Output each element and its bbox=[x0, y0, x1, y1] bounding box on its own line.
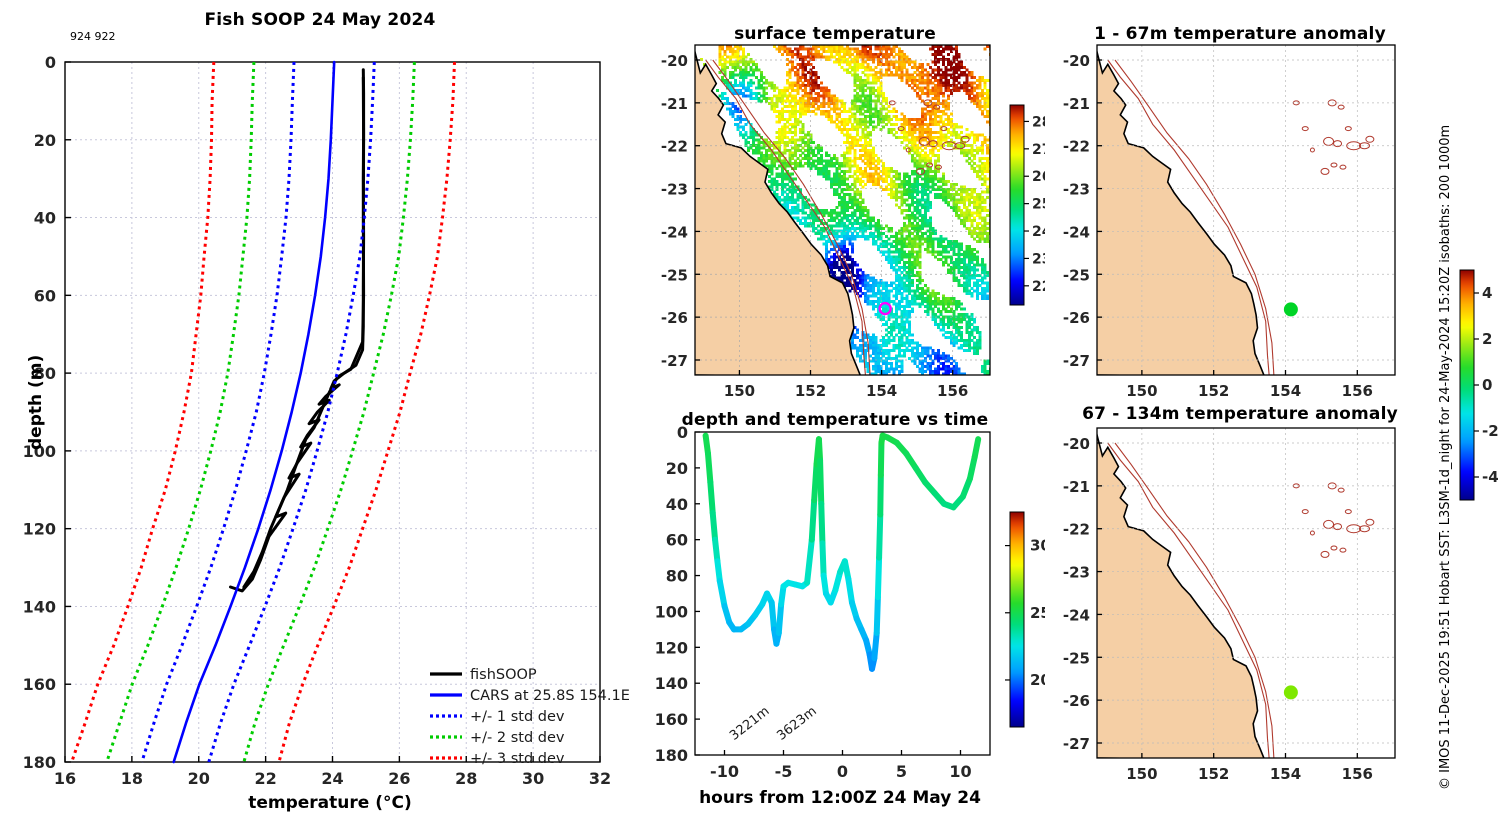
x-tick-label: 16 bbox=[54, 769, 76, 788]
y-tick-label: 140 bbox=[655, 674, 688, 693]
y-tick-label: -22 bbox=[661, 138, 688, 156]
x-tick-label: 18 bbox=[121, 769, 143, 788]
bathymetry-annotation: 3623m bbox=[774, 704, 819, 744]
depth-time-track-segment bbox=[772, 602, 774, 629]
y-tick-label: 40 bbox=[666, 495, 688, 514]
depth-time-track-segment bbox=[879, 515, 880, 558]
y-tick-label: 0 bbox=[677, 423, 688, 442]
y-tick-label: -24 bbox=[1063, 606, 1090, 624]
depth-time-track-segment bbox=[708, 454, 710, 483]
y-tick-label: -21 bbox=[661, 95, 688, 113]
y-tick-label: -27 bbox=[1063, 735, 1090, 753]
y-tick-label: -25 bbox=[1063, 649, 1090, 667]
profile-series--2-std-dev bbox=[107, 62, 254, 762]
y-tick-label: 40 bbox=[34, 209, 56, 228]
y-tick-label: 180 bbox=[23, 753, 56, 772]
credit-text: © IMOS 11-Dec-2025 19:51 Hobart SST: L3S… bbox=[1438, 125, 1453, 790]
y-tick-label: -23 bbox=[661, 181, 688, 199]
depth-time-track-segment bbox=[877, 597, 878, 633]
colorbar-tick-label: 25 bbox=[1030, 604, 1045, 622]
depth-time-track-segment bbox=[713, 513, 715, 540]
x-tick-label: 154 bbox=[1270, 382, 1301, 400]
depth-time-track-segment bbox=[812, 500, 814, 539]
y-tick-label: -21 bbox=[1063, 95, 1090, 113]
y-tick-label: -25 bbox=[1063, 266, 1090, 284]
profile-xlabel: temperature (°C) bbox=[60, 793, 600, 813]
colorbar-tick-label: 20 bbox=[1030, 671, 1045, 689]
depth-time-track-segment bbox=[878, 558, 879, 597]
y-tick-label: 60 bbox=[34, 286, 56, 305]
depth-time-xlabel: hours from 12:00Z 24 May 24 bbox=[655, 788, 1025, 808]
legend-label: fishSOOP bbox=[470, 667, 537, 683]
legend-label: CARS at 25.8S 154.1E bbox=[470, 688, 630, 704]
y-tick-label: -26 bbox=[1063, 692, 1090, 710]
depth-time-track-segment bbox=[819, 439, 820, 461]
x-tick-label: 156 bbox=[937, 382, 968, 400]
depth-time-track-segment bbox=[720, 581, 725, 606]
y-tick-label: -27 bbox=[1063, 352, 1090, 370]
depth-time-plot: -10-505100204060801001201401601803221m36… bbox=[645, 400, 1045, 820]
depth-time-track-segment bbox=[820, 461, 821, 504]
profile-plot: 1618202224262830320204060801001201401601… bbox=[0, 0, 645, 820]
x-tick-label: 22 bbox=[254, 769, 276, 788]
panel-profile: Fish SOOP 24 May 2024 924 922 1618202224… bbox=[0, 0, 645, 820]
y-tick-label: 60 bbox=[666, 531, 688, 550]
y-tick-label: 0 bbox=[45, 53, 56, 72]
sst-colorbar-bar bbox=[1010, 105, 1024, 305]
y-tick-label: -20 bbox=[661, 52, 688, 70]
colorbar-tick-label: -4 bbox=[1482, 468, 1499, 486]
x-tick-label: -10 bbox=[710, 762, 739, 781]
depth-time-track-segment bbox=[975, 439, 979, 457]
depth-time-axes-frame bbox=[695, 432, 990, 755]
x-tick-label: -5 bbox=[775, 762, 793, 781]
panel-anomaly-upper: 1 - 67m temperature anomaly 150152154156… bbox=[1045, 0, 1445, 400]
colorbar-tick-label: 2 bbox=[1482, 330, 1492, 348]
colorbar-tick-label: 27 bbox=[1032, 142, 1045, 158]
depth-time-track-segment bbox=[880, 475, 881, 514]
anomaly-raster bbox=[1095, 428, 1395, 760]
x-tick-label: 154 bbox=[1270, 765, 1301, 783]
y-tick-label: 100 bbox=[655, 602, 688, 621]
profile-ylabel: depth (m) bbox=[26, 355, 46, 450]
y-tick-label: -24 bbox=[1063, 223, 1090, 241]
anomaly-lower-plot: 150152154156-20-21-22-23-24-25-26-27 bbox=[1045, 400, 1445, 820]
colorbar-tick-label: 0 bbox=[1482, 376, 1492, 394]
colorbar-tick-label: -2 bbox=[1482, 422, 1499, 440]
anomaly-raster bbox=[1095, 45, 1395, 377]
x-tick-label: 24 bbox=[321, 769, 343, 788]
sst-raster bbox=[693, 45, 992, 377]
profile-series-fishsoop-repeat bbox=[244, 78, 364, 587]
panel-anomaly-lower: 67 - 134m temperature anomaly 1501521541… bbox=[1045, 400, 1445, 820]
panel-depth-time: depth and temperature vs time -10-505100… bbox=[645, 400, 1045, 820]
depth-time-track-segment bbox=[970, 457, 975, 479]
colorbar-tick-label: 26 bbox=[1032, 169, 1045, 185]
y-tick-label: -21 bbox=[1063, 478, 1090, 496]
x-tick-label: 32 bbox=[589, 769, 611, 788]
depth-time-colorbar-bar bbox=[1010, 512, 1024, 727]
depth-time-track-segment bbox=[807, 540, 812, 583]
profile-series--3-std-dev bbox=[279, 62, 455, 762]
y-tick-label: -23 bbox=[1063, 181, 1090, 199]
legend-label: +/- 1 std dev bbox=[470, 709, 565, 725]
colorbar-tick-label: 23 bbox=[1032, 251, 1045, 267]
y-tick-label: -27 bbox=[661, 352, 688, 370]
y-tick-label: 120 bbox=[23, 520, 56, 539]
bathymetry-annotation: 3221m bbox=[727, 704, 772, 744]
figure-canvas: Fish SOOP 24 May 2024 924 922 1618202224… bbox=[0, 0, 1500, 820]
x-tick-label: 20 bbox=[188, 769, 210, 788]
x-tick-label: 150 bbox=[1126, 765, 1157, 783]
anomaly-station-marker bbox=[1284, 302, 1298, 316]
y-tick-label: 120 bbox=[655, 638, 688, 657]
y-tick-label: 180 bbox=[655, 746, 688, 765]
colorbar-tick-label: 30 bbox=[1030, 537, 1045, 555]
x-tick-label: 150 bbox=[1126, 382, 1157, 400]
panel-sst-map: surface temperature 150152154156-20-21-2… bbox=[645, 0, 1045, 400]
x-tick-label: 5 bbox=[896, 762, 907, 781]
depth-time-track-segment bbox=[814, 464, 816, 500]
x-tick-label: 156 bbox=[1342, 382, 1373, 400]
depth-time-track-segment bbox=[710, 482, 712, 513]
y-tick-label: -24 bbox=[661, 223, 688, 241]
depth-time-track-segment bbox=[874, 633, 876, 658]
colorbar-tick-label: 24 bbox=[1032, 224, 1045, 240]
y-tick-label: -22 bbox=[1063, 138, 1090, 156]
sst-map-plot: 150152154156-20-21-22-23-24-25-26-272223… bbox=[645, 0, 1045, 400]
depth-time-track-segment bbox=[881, 443, 882, 475]
y-tick-label: 20 bbox=[666, 459, 688, 478]
x-tick-label: 154 bbox=[866, 382, 897, 400]
y-tick-label: -26 bbox=[661, 309, 688, 327]
colorbar-tick-label: 22 bbox=[1032, 279, 1045, 295]
x-tick-label: 152 bbox=[795, 382, 826, 400]
depth-time-track-segment bbox=[779, 604, 781, 633]
y-tick-label: -22 bbox=[1063, 521, 1090, 539]
anomaly-station-marker bbox=[1284, 685, 1298, 699]
depth-time-track-segment bbox=[822, 543, 823, 575]
y-tick-label: -20 bbox=[1063, 52, 1090, 70]
x-tick-label: 10 bbox=[949, 762, 971, 781]
colorbar-tick-label: 28 bbox=[1032, 114, 1045, 130]
y-tick-label: -23 bbox=[1063, 564, 1090, 582]
legend-label: +/- 2 std dev bbox=[470, 730, 565, 746]
y-tick-label: -26 bbox=[1063, 309, 1090, 327]
legend-label: +/- 3 std dev bbox=[470, 751, 565, 767]
x-tick-label: 26 bbox=[388, 769, 410, 788]
y-tick-label: 80 bbox=[666, 567, 688, 586]
depth-time-track-segment bbox=[848, 579, 852, 602]
depth-time-track-segment bbox=[715, 540, 717, 562]
x-tick-label: 156 bbox=[1342, 765, 1373, 783]
colorbar-tick-label: 4 bbox=[1482, 284, 1492, 302]
anomaly-upper-plot: 150152154156-20-21-22-23-24-25-26-27 bbox=[1045, 0, 1445, 400]
x-tick-label: 0 bbox=[837, 762, 848, 781]
y-tick-label: 160 bbox=[23, 675, 56, 694]
x-tick-label: 152 bbox=[1198, 382, 1229, 400]
colorbar-tick-label: 25 bbox=[1032, 197, 1045, 213]
y-tick-label: 160 bbox=[655, 710, 688, 729]
y-tick-label: 140 bbox=[23, 597, 56, 616]
anomaly-colorbar-bar bbox=[1460, 270, 1474, 500]
x-tick-label: 28 bbox=[455, 769, 477, 788]
profile-series-cars-at-25-8s-154-1e bbox=[174, 62, 335, 762]
profile-series--1-std-dev bbox=[142, 62, 294, 762]
y-tick-label: -25 bbox=[661, 266, 688, 284]
x-tick-label: 150 bbox=[724, 382, 755, 400]
x-tick-label: 152 bbox=[1198, 765, 1229, 783]
depth-time-track-segment bbox=[821, 504, 822, 543]
y-tick-label: 20 bbox=[34, 131, 56, 150]
x-tick-label: 30 bbox=[522, 769, 544, 788]
y-tick-label: -20 bbox=[1063, 435, 1090, 453]
